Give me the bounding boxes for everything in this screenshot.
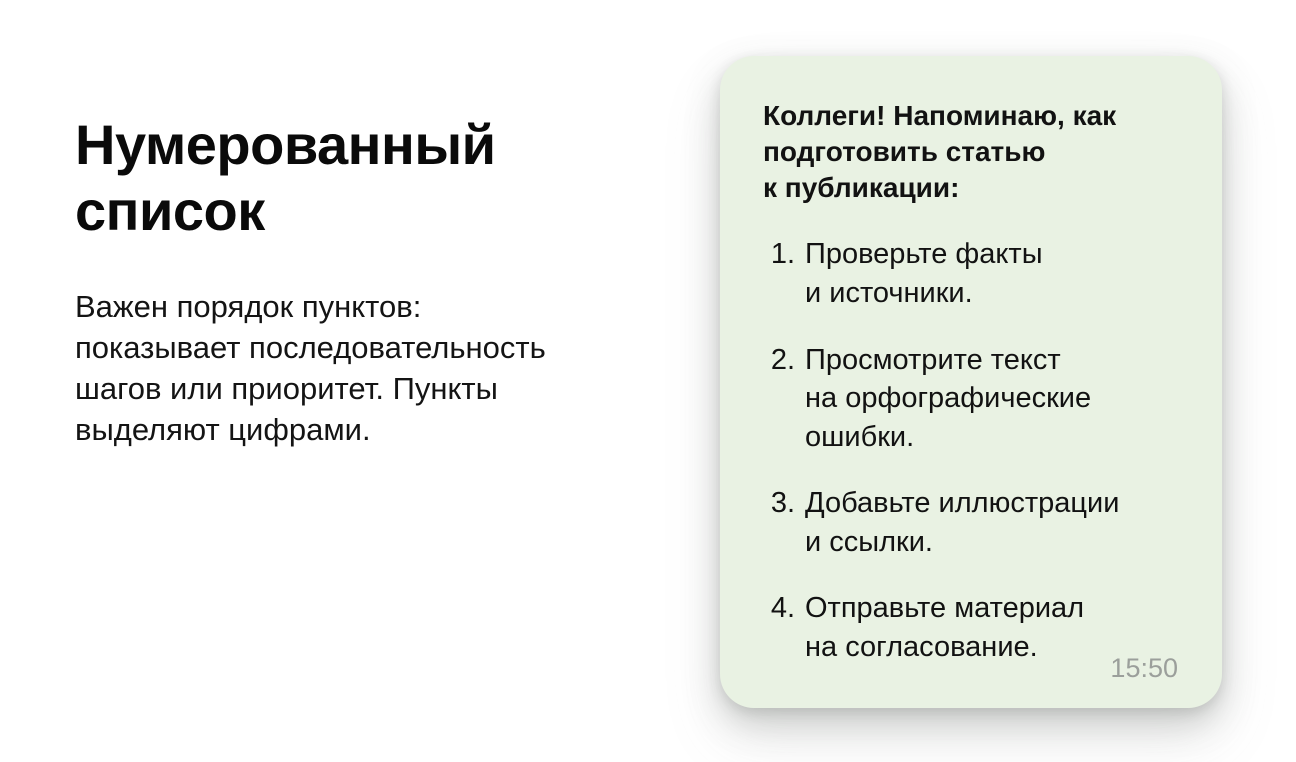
list-item: 2. Просмотрите текст на орфографические …: [763, 341, 1178, 457]
list-item: 1. Проверьте факты и источники.: [763, 235, 1178, 312]
message-timestamp: 15:50: [1110, 655, 1178, 682]
slide-canvas: Нумерованный список Важен порядок пункто…: [0, 0, 1296, 762]
list-item: 3. Добавьте иллюстрации и ссылки.: [763, 484, 1178, 561]
list-item-number: 2.: [763, 341, 805, 380]
list-item-number: 4.: [763, 589, 805, 628]
list-item-text: Проверьте факты и источники.: [805, 235, 1178, 312]
slide-description: Важен порядок пунктов: показывает послед…: [75, 287, 665, 451]
message-intro-text: Коллеги! Напоминаю, как подготовить стат…: [763, 98, 1178, 205]
list-item-text: Добавьте иллюстрации и ссылки.: [805, 484, 1178, 561]
message-bubble-container: Коллеги! Напоминаю, как подготовить стат…: [720, 56, 1222, 708]
page-title: Нумерованный список: [75, 112, 675, 243]
left-column: Нумерованный список Важен порядок пункто…: [75, 112, 675, 451]
list-item-number: 1.: [763, 235, 805, 274]
numbered-list: 1. Проверьте факты и источники. 2. Просм…: [763, 235, 1178, 666]
chat-message-bubble: Коллеги! Напоминаю, как подготовить стат…: [720, 56, 1222, 708]
list-item-number: 3.: [763, 484, 805, 523]
list-item-text: Просмотрите текст на орфографические оши…: [805, 341, 1178, 457]
